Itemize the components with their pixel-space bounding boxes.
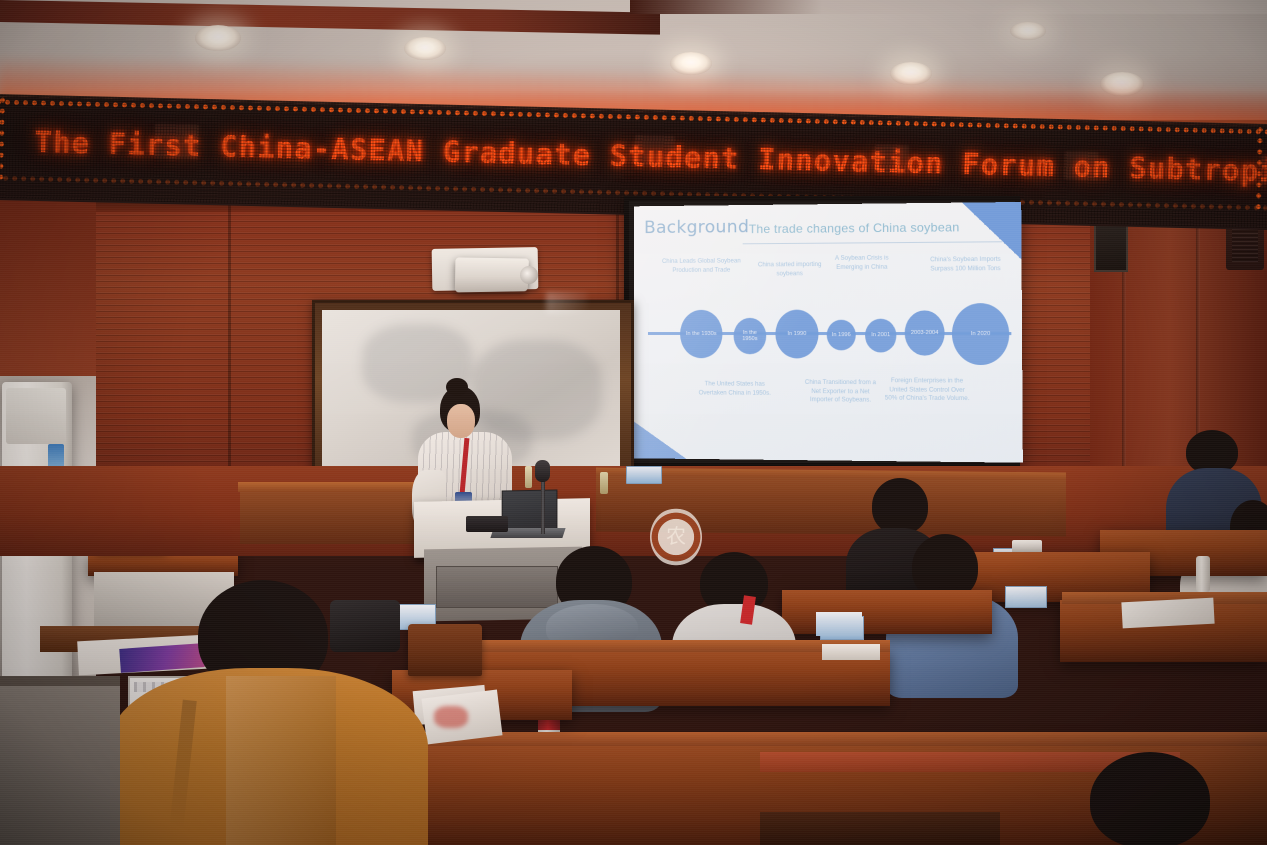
- timeline-caption-below: The United States has Overtaken China in…: [696, 380, 773, 398]
- water-bottle-icon: [600, 472, 608, 494]
- ceiling-downlight-icon: [1010, 22, 1046, 40]
- floor-baseboard: [0, 676, 120, 686]
- attendee-hair: [872, 478, 928, 534]
- projector-lens-icon: [520, 266, 538, 284]
- paper-document: [1121, 598, 1214, 629]
- audience-desk: [782, 590, 992, 634]
- jacket-crease: [226, 676, 336, 845]
- left-wall-upper: [0, 186, 96, 376]
- bag-icon: [330, 600, 400, 652]
- floor: [0, 682, 120, 845]
- timeline-node: In 2001: [865, 319, 896, 353]
- emblem-character: 农: [662, 520, 690, 552]
- audience-chair: [408, 624, 482, 676]
- presenter-hair-bun: [446, 378, 468, 396]
- timeline-node: In 1996: [827, 320, 856, 351]
- ceiling-downlight-icon: [195, 25, 241, 51]
- ac-vent: [6, 388, 66, 444]
- timeline-node: In 2020: [952, 303, 1010, 365]
- slide-title: Background: [644, 217, 749, 238]
- name-placard: [626, 466, 662, 484]
- timeline-caption-above: China Leads Global Soybean Production an…: [660, 257, 743, 275]
- podium-shelf: [436, 566, 558, 608]
- attendee-hair: [1090, 752, 1210, 845]
- water-bottle-icon: [1196, 556, 1210, 592]
- timeline-caption-below: China Transitioned from a Net Exporter t…: [804, 379, 877, 405]
- timeline-node: In the 1950s: [734, 318, 767, 354]
- wall-frame-icon: [1094, 220, 1128, 272]
- slide-content: Background The trade changes of China so…: [634, 202, 1023, 463]
- microphone-icon: [535, 460, 550, 482]
- ceiling-soffit-right: [630, 0, 1267, 14]
- slide-subtitle: The trade changes of China soybean: [749, 220, 960, 236]
- timeline-node: In 1990: [775, 310, 818, 359]
- timeline-caption-above: A Soybean Crisis is Emerging in China: [833, 254, 891, 272]
- projector-icon: [455, 257, 529, 292]
- timeline-node: 2003-2004: [905, 310, 945, 355]
- presenter-remote-icon: [466, 516, 508, 532]
- slide-corner-decoration: [634, 402, 706, 463]
- name-placard: [816, 612, 862, 636]
- stage-ledge-top: [238, 482, 420, 492]
- wall-panel-seam: [228, 200, 231, 500]
- presenter-face: [447, 404, 475, 438]
- notebook-print: [434, 706, 468, 728]
- projection-screen: Background The trade changes of China so…: [624, 196, 1020, 468]
- ceiling-downlight-icon: [404, 37, 446, 60]
- stage-ledge: [240, 490, 418, 544]
- timeline-caption-above: China started importing soybeans: [757, 261, 823, 279]
- water-bottle-icon: [525, 466, 532, 488]
- timeline-caption-below: Foreign Enterprises in the United States…: [883, 377, 971, 404]
- projector-beam: [546, 292, 588, 314]
- name-placard: [1005, 586, 1047, 608]
- wall-groove: [1196, 200, 1200, 450]
- foreground-chair: [760, 812, 1000, 845]
- timeline-node: In the 1930s: [680, 310, 722, 358]
- paper-document: [822, 644, 880, 660]
- conference-room-photo: The First China-ASEAN Graduate Student I…: [0, 0, 1267, 845]
- timeline-caption-above: China's Soybean Imports Surpass 100 Mill…: [926, 256, 1004, 274]
- audience-desk-top: [420, 640, 890, 652]
- foreground-desk-top: [370, 732, 1267, 746]
